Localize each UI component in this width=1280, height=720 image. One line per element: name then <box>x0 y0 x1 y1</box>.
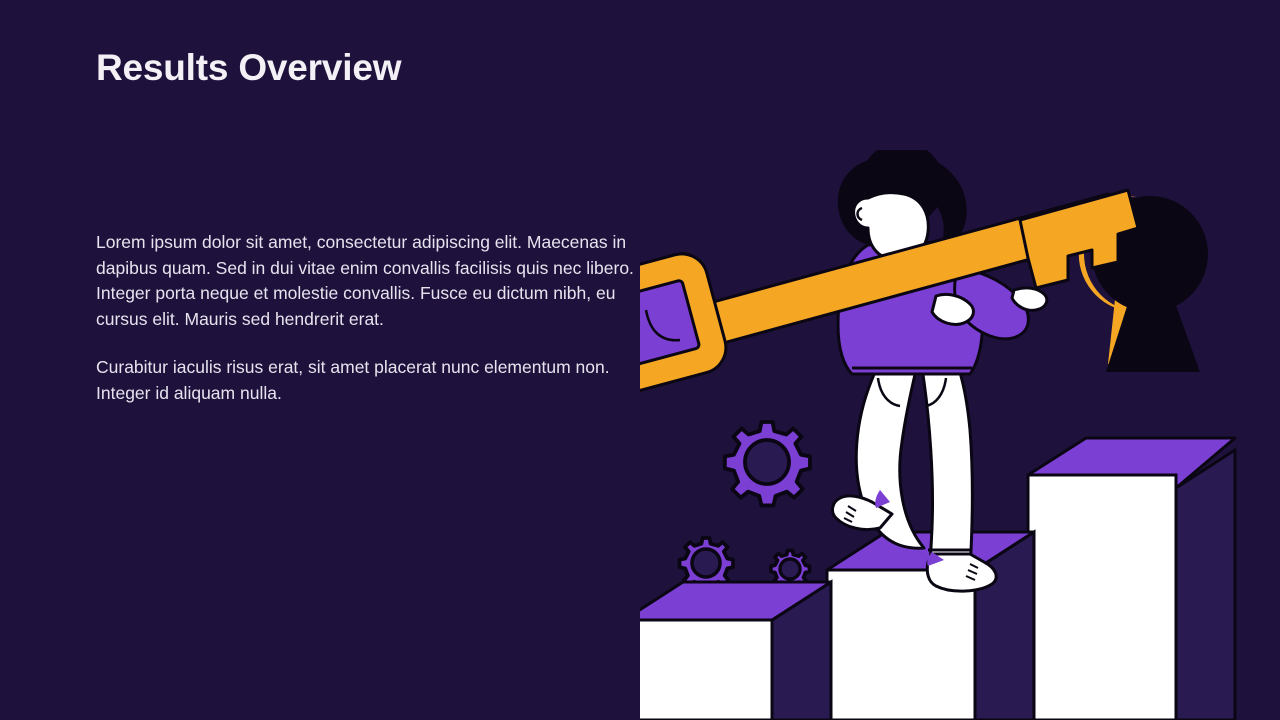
gear-large-icon <box>725 422 810 505</box>
bar-step-1 <box>640 582 831 720</box>
body-paragraph-1: Lorem ipsum dolor sit amet, consectetur … <box>96 230 636 332</box>
bar-step-3 <box>1028 438 1235 720</box>
illustration-person-with-key <box>640 150 1280 720</box>
title-block: Results Overview <box>96 48 656 89</box>
page-title: Results Overview <box>96 48 656 89</box>
person-back-leg <box>833 370 924 548</box>
slide-canvas: Results Overview Lorem ipsum dolor sit a… <box>0 0 1280 720</box>
body-paragraph-2: Curabitur iaculis risus erat, sit amet p… <box>96 355 636 406</box>
body-text-block: Lorem ipsum dolor sit amet, consectetur … <box>96 230 636 407</box>
